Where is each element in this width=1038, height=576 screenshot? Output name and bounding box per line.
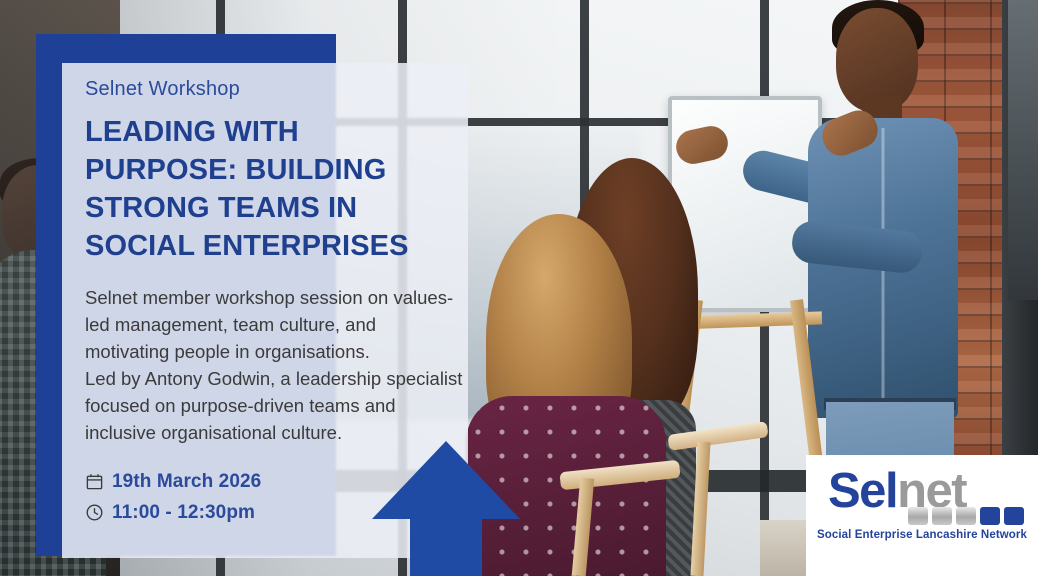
description-line-2: Led by Antony Godwin, a leadership speci…	[85, 365, 463, 446]
logo-word-part-1: Se	[828, 464, 885, 518]
description-line-1: Selnet member workshop session on values…	[85, 284, 463, 365]
logo-tagline: Social Enterprise Lancashire Network	[806, 529, 1038, 541]
arrow-up-icon	[372, 441, 520, 576]
event-time-row: 11:00 - 12:30pm	[85, 497, 261, 528]
logo-word-part-2: l	[885, 464, 897, 518]
event-date-row: 19th March 2026	[85, 466, 261, 497]
logo-block-blue	[1004, 507, 1024, 525]
clock-icon	[85, 502, 112, 524]
logo-block-blue	[980, 507, 1000, 525]
calendar-icon	[85, 471, 112, 493]
poster-canvas: Selnet Workshop Leading with Purpose: Bu…	[0, 0, 1038, 576]
logo-blocks	[908, 507, 1024, 525]
event-date: 19th March 2026	[112, 471, 261, 493]
logo-block-gray	[956, 507, 976, 525]
description-block: Selnet member workshop session on values…	[85, 284, 463, 446]
event-time: 11:00 - 12:30pm	[112, 502, 255, 524]
logo-block-gray	[908, 507, 928, 525]
logo-block-gray	[932, 507, 952, 525]
event-meta: 19th March 2026 11:00 - 12:30pm	[85, 466, 261, 528]
eyebrow-label: Selnet Workshop	[85, 78, 445, 101]
selnet-logo: Selnet Social Enterprise Lancashire Netw…	[806, 455, 1038, 576]
page-title: Leading with Purpose: Building Strong Te…	[85, 113, 447, 265]
